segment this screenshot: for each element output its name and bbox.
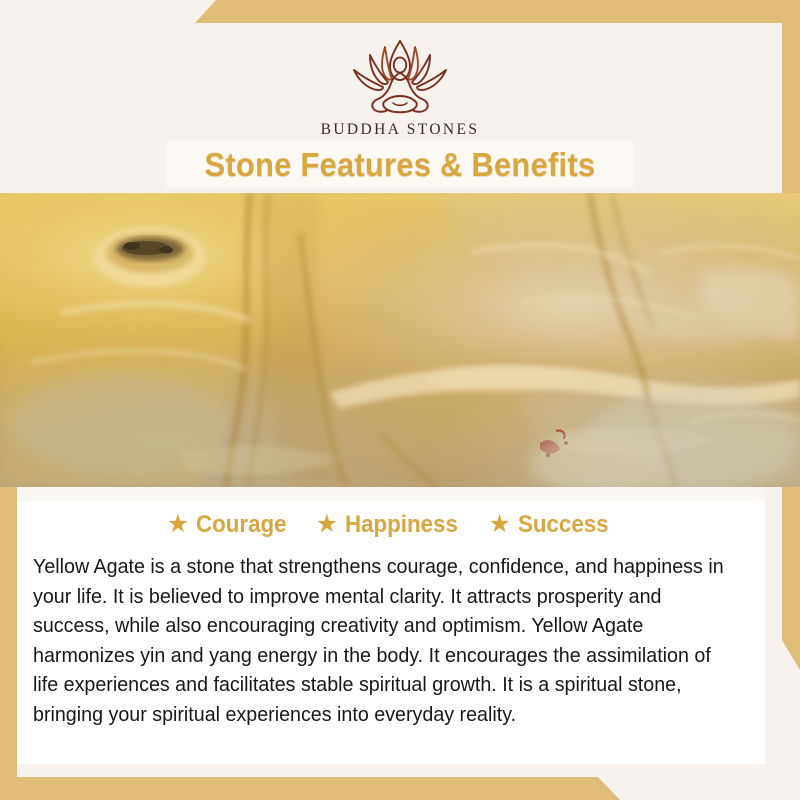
brand-logo: BUDDHA STONES (18, 33, 782, 139)
right-gold-strip-lower (782, 490, 800, 670)
left-gold-strip (0, 487, 17, 777)
infographic-page: BUDDHA STONES Stone Features & Benefits (0, 0, 800, 800)
star-icon: ★ (167, 512, 189, 537)
stone-texture (0, 193, 800, 487)
content-card: ★ Courage ★ Happiness ★ Success Yellow A… (17, 487, 765, 764)
benefit-label: Courage (196, 511, 287, 539)
brand-name: BUDDHA STONES (321, 121, 480, 139)
star-icon: ★ (316, 512, 338, 537)
page-title: Stone Features & Benefits (205, 146, 596, 184)
benefit-item: ★ Courage (167, 511, 294, 539)
benefit-label: Success (518, 511, 609, 539)
star-icon: ★ (488, 512, 510, 537)
benefit-item: ★ Happiness (316, 511, 467, 539)
stone-description: Yellow Agate is a stone that strengthens… (33, 553, 726, 730)
lotus-meditation-icon (338, 33, 462, 119)
stone-image: Yellow Agate (0, 193, 800, 487)
benefits-list: ★ Courage ★ Happiness ★ Success (17, 511, 765, 539)
benefit-label: Happiness (345, 511, 458, 539)
top-gold-band (195, 0, 800, 23)
benefit-item: ★ Success (488, 511, 615, 539)
title-panel: Stone Features & Benefits (166, 141, 634, 188)
card-top-divider (17, 487, 765, 501)
bottom-gold-band (0, 777, 620, 800)
